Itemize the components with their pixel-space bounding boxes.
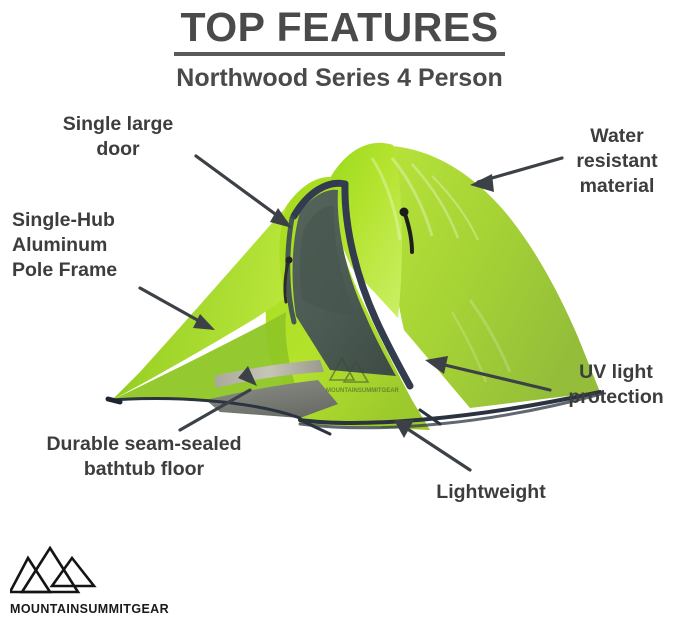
mountain-peak-left — [10, 558, 50, 592]
arrow-line-lightweight — [400, 424, 470, 470]
callout-line: Single-Hub — [12, 208, 172, 233]
callout-single-hub-aluminum-pole-frame: Single-Hub Aluminum Pole Frame — [12, 208, 172, 283]
tent-fabric-logo-wordmark: MOUNTAINSUMMITGEAR — [326, 388, 400, 394]
callout-lightweight: Lightweight — [396, 480, 586, 505]
brand-wordmark: MOUNTAINSUMMITGEAR — [10, 602, 160, 616]
arrow-line-single-large-door — [196, 156, 286, 222]
callout-line: UV light — [556, 360, 676, 385]
callout-line: Lightweight — [396, 480, 586, 505]
tent-zipper-head-lower — [286, 257, 293, 264]
brand-logo: MOUNTAINSUMMITGEAR — [10, 540, 160, 616]
callout-line: Aluminum — [12, 233, 172, 258]
callout-line: protection — [556, 385, 676, 410]
callout-durable-seam-sealed-bathtub-floor: Durable seam-sealed bathtub floor — [10, 432, 278, 482]
tent-graphic: MOUNTAINSUMMITGEAR — [108, 143, 601, 434]
callout-line: bathtub floor — [10, 457, 278, 482]
tent-stake-left — [108, 399, 120, 402]
callout-line: Water — [558, 124, 676, 149]
callout-line: Pole Frame — [12, 258, 172, 283]
callout-line: Single large — [30, 112, 206, 137]
callout-water-resistant-material: Water resistant material — [558, 124, 676, 199]
callout-line: door — [30, 137, 206, 162]
callout-line: resistant — [558, 149, 676, 174]
tent-zipper-head-upper — [400, 208, 409, 217]
callout-line: Durable seam-sealed — [10, 432, 278, 457]
callout-single-large-door: Single large door — [30, 112, 206, 162]
three-mountain-peaks-icon — [10, 540, 142, 596]
callout-line: material — [558, 174, 676, 199]
infographic-page: TOP FEATURES Northwood Series 4 Person — [0, 0, 679, 621]
callout-uv-light-protection: UV light protection — [556, 360, 676, 410]
tent-illustration: MOUNTAINSUMMITGEAR — [0, 0, 679, 621]
